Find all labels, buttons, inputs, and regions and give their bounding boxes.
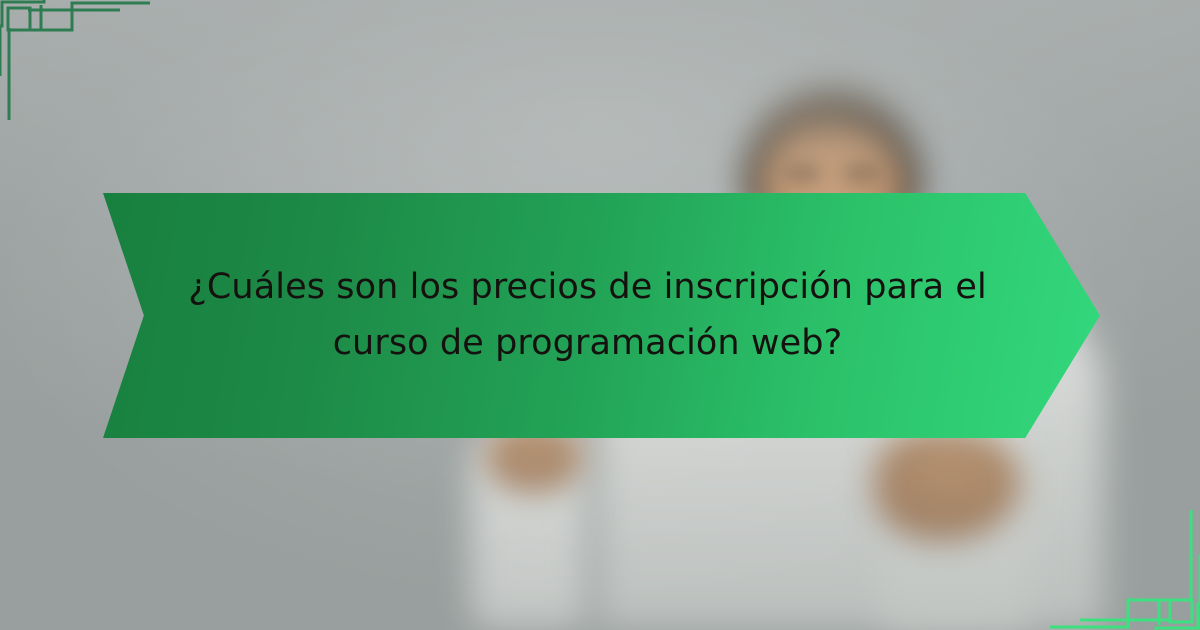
poster-canvas: ¿Cuáles son los precios de inscripción p… — [0, 0, 1200, 630]
ribbon-banner: ¿Cuáles son los precios de inscripción p… — [103, 193, 1100, 438]
banner-question-text: ¿Cuáles son los precios de inscripción p… — [168, 260, 1008, 371]
